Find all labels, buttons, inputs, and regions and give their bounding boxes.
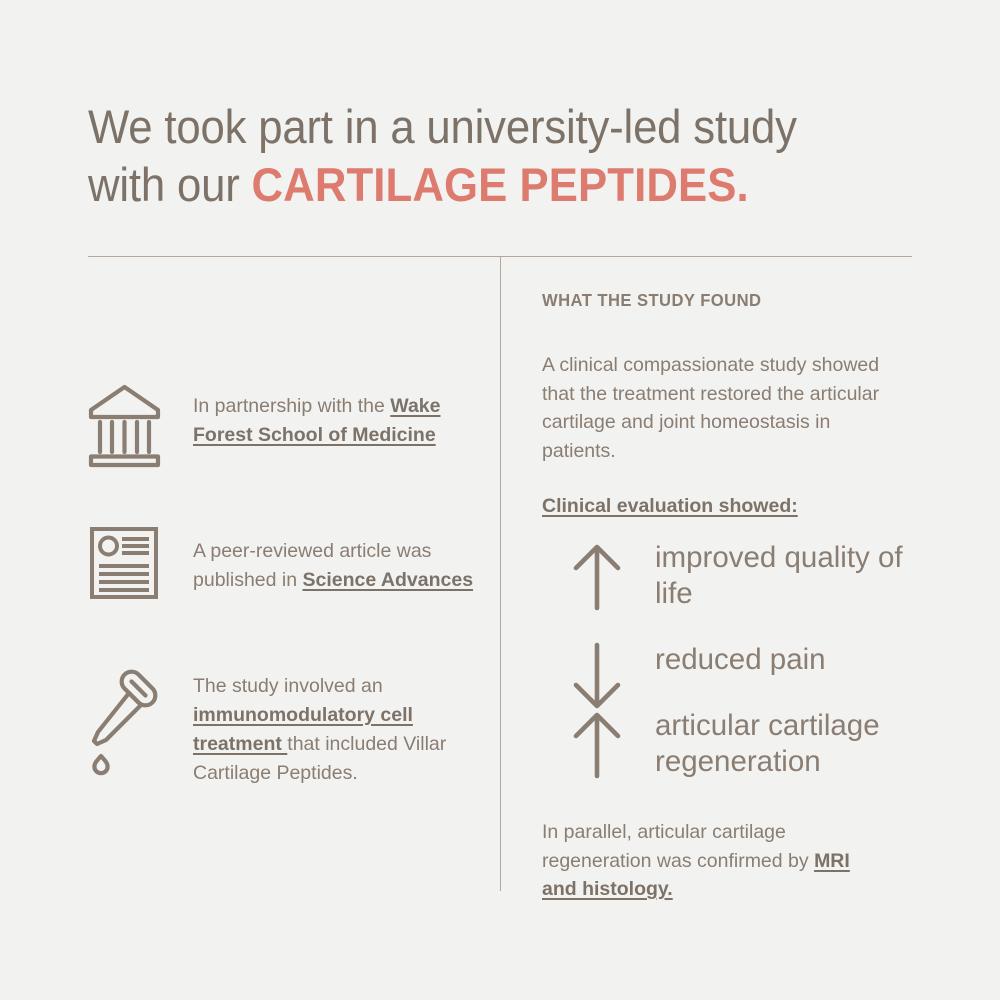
outcome-label: improved quality of life <box>632 540 942 612</box>
arrow-up-icon <box>562 708 632 779</box>
section-subheading: Clinical evaluation showed: <box>542 495 798 518</box>
museum-building-icon <box>88 380 164 476</box>
headline-line-1: We took part in a university-led study <box>88 100 797 153</box>
headline-line-2-prefix: with our <box>88 158 252 211</box>
closing-text-plain: In parallel, articular cartilage regener… <box>542 821 814 872</box>
dropper-pipette-icon <box>88 668 164 764</box>
fact-text-publication: A peer-reviewed article was published in… <box>193 537 488 595</box>
fact-text-link[interactable]: Science Advances <box>303 569 474 591</box>
arrow-down-icon <box>562 639 632 710</box>
infographic-canvas: We took part in a university-led study w… <box>0 0 1000 1000</box>
arrow-up-icon <box>562 540 632 611</box>
outcome-item: articular cartilage regeneration <box>562 708 942 780</box>
headline-accent: CARTILAGE PEPTIDES. <box>252 158 749 211</box>
article-document-icon <box>88 525 164 621</box>
section-lede: A clinical compassionate study showed th… <box>542 351 890 465</box>
closing-paragraph: In parallel, articular cartilage regener… <box>542 818 882 904</box>
vertical-divider <box>500 257 501 891</box>
page-title: We took part in a university-led study w… <box>88 98 888 214</box>
outcome-label: articular cartilage regeneration <box>632 708 942 780</box>
fact-text-partnership: In partnership with the Wake Forest Scho… <box>193 392 488 450</box>
fact-text-plain: The study involved an <box>193 675 383 697</box>
fact-text-treatment: The study involved an immunomodulatory c… <box>193 672 493 788</box>
fact-text-plain: In partnership with the <box>193 395 390 417</box>
outcome-item: reduced pain <box>562 639 826 710</box>
right-column: WHAT THE STUDY FOUND A clinical compassi… <box>542 290 942 518</box>
outcome-item: improved quality of life <box>562 540 942 612</box>
section-eyebrow: WHAT THE STUDY FOUND <box>542 290 922 311</box>
outcome-label: reduced pain <box>632 639 826 678</box>
